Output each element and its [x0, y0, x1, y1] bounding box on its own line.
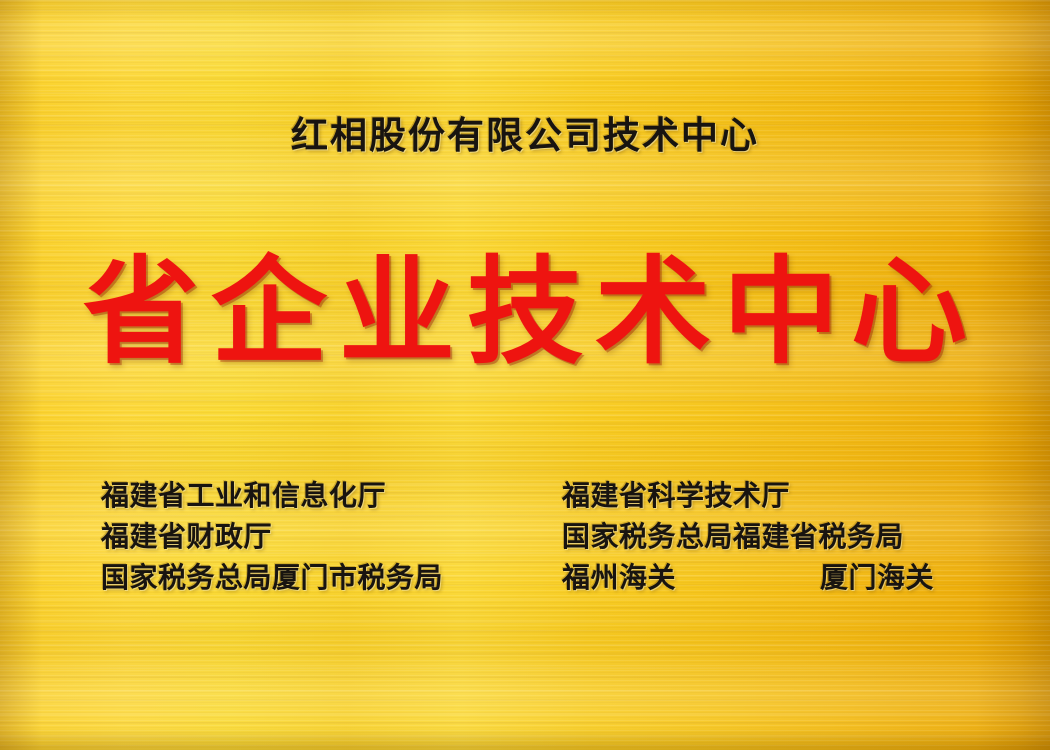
agency-fujian-provincial-tax-bureau: 国家税务总局福建省税务局: [562, 521, 981, 553]
agency-fujian-industry-information-technology: 福建省工业和信息化厅: [101, 480, 562, 512]
award-plaque: 红相股份有限公司技术中心 省企业技术中心 福建省工业和信息化厅 福建省科学技术厅…: [0, 0, 1050, 750]
agency-row: 福建省工业和信息化厅 福建省科学技术厅: [101, 480, 981, 521]
agency-customs-group: 福州海关 厦门海关: [562, 562, 981, 594]
agency-row: 福建省财政厅 国家税务总局福建省税务局: [101, 521, 981, 562]
agency-fuzhou-customs: 福州海关: [562, 562, 820, 594]
issuing-agencies-block: 福建省工业和信息化厅 福建省科学技术厅 福建省财政厅 国家税务总局福建省税务局 …: [101, 480, 981, 603]
plaque-content: 红相股份有限公司技术中心 省企业技术中心 福建省工业和信息化厅 福建省科学技术厅…: [0, 0, 1050, 750]
main-heading: 省企业技术中心: [0, 250, 1050, 374]
agency-fujian-science-technology: 福建省科学技术厅: [562, 480, 981, 512]
agency-fujian-finance: 福建省财政厅: [101, 521, 562, 553]
company-title: 红相股份有限公司技术中心: [0, 116, 1050, 156]
agency-xiamen-customs: 厦门海关: [820, 562, 934, 594]
agency-row: 国家税务总局厦门市税务局 福州海关 厦门海关: [101, 562, 981, 603]
agency-xiamen-municipal-tax-bureau: 国家税务总局厦门市税务局: [101, 562, 562, 594]
